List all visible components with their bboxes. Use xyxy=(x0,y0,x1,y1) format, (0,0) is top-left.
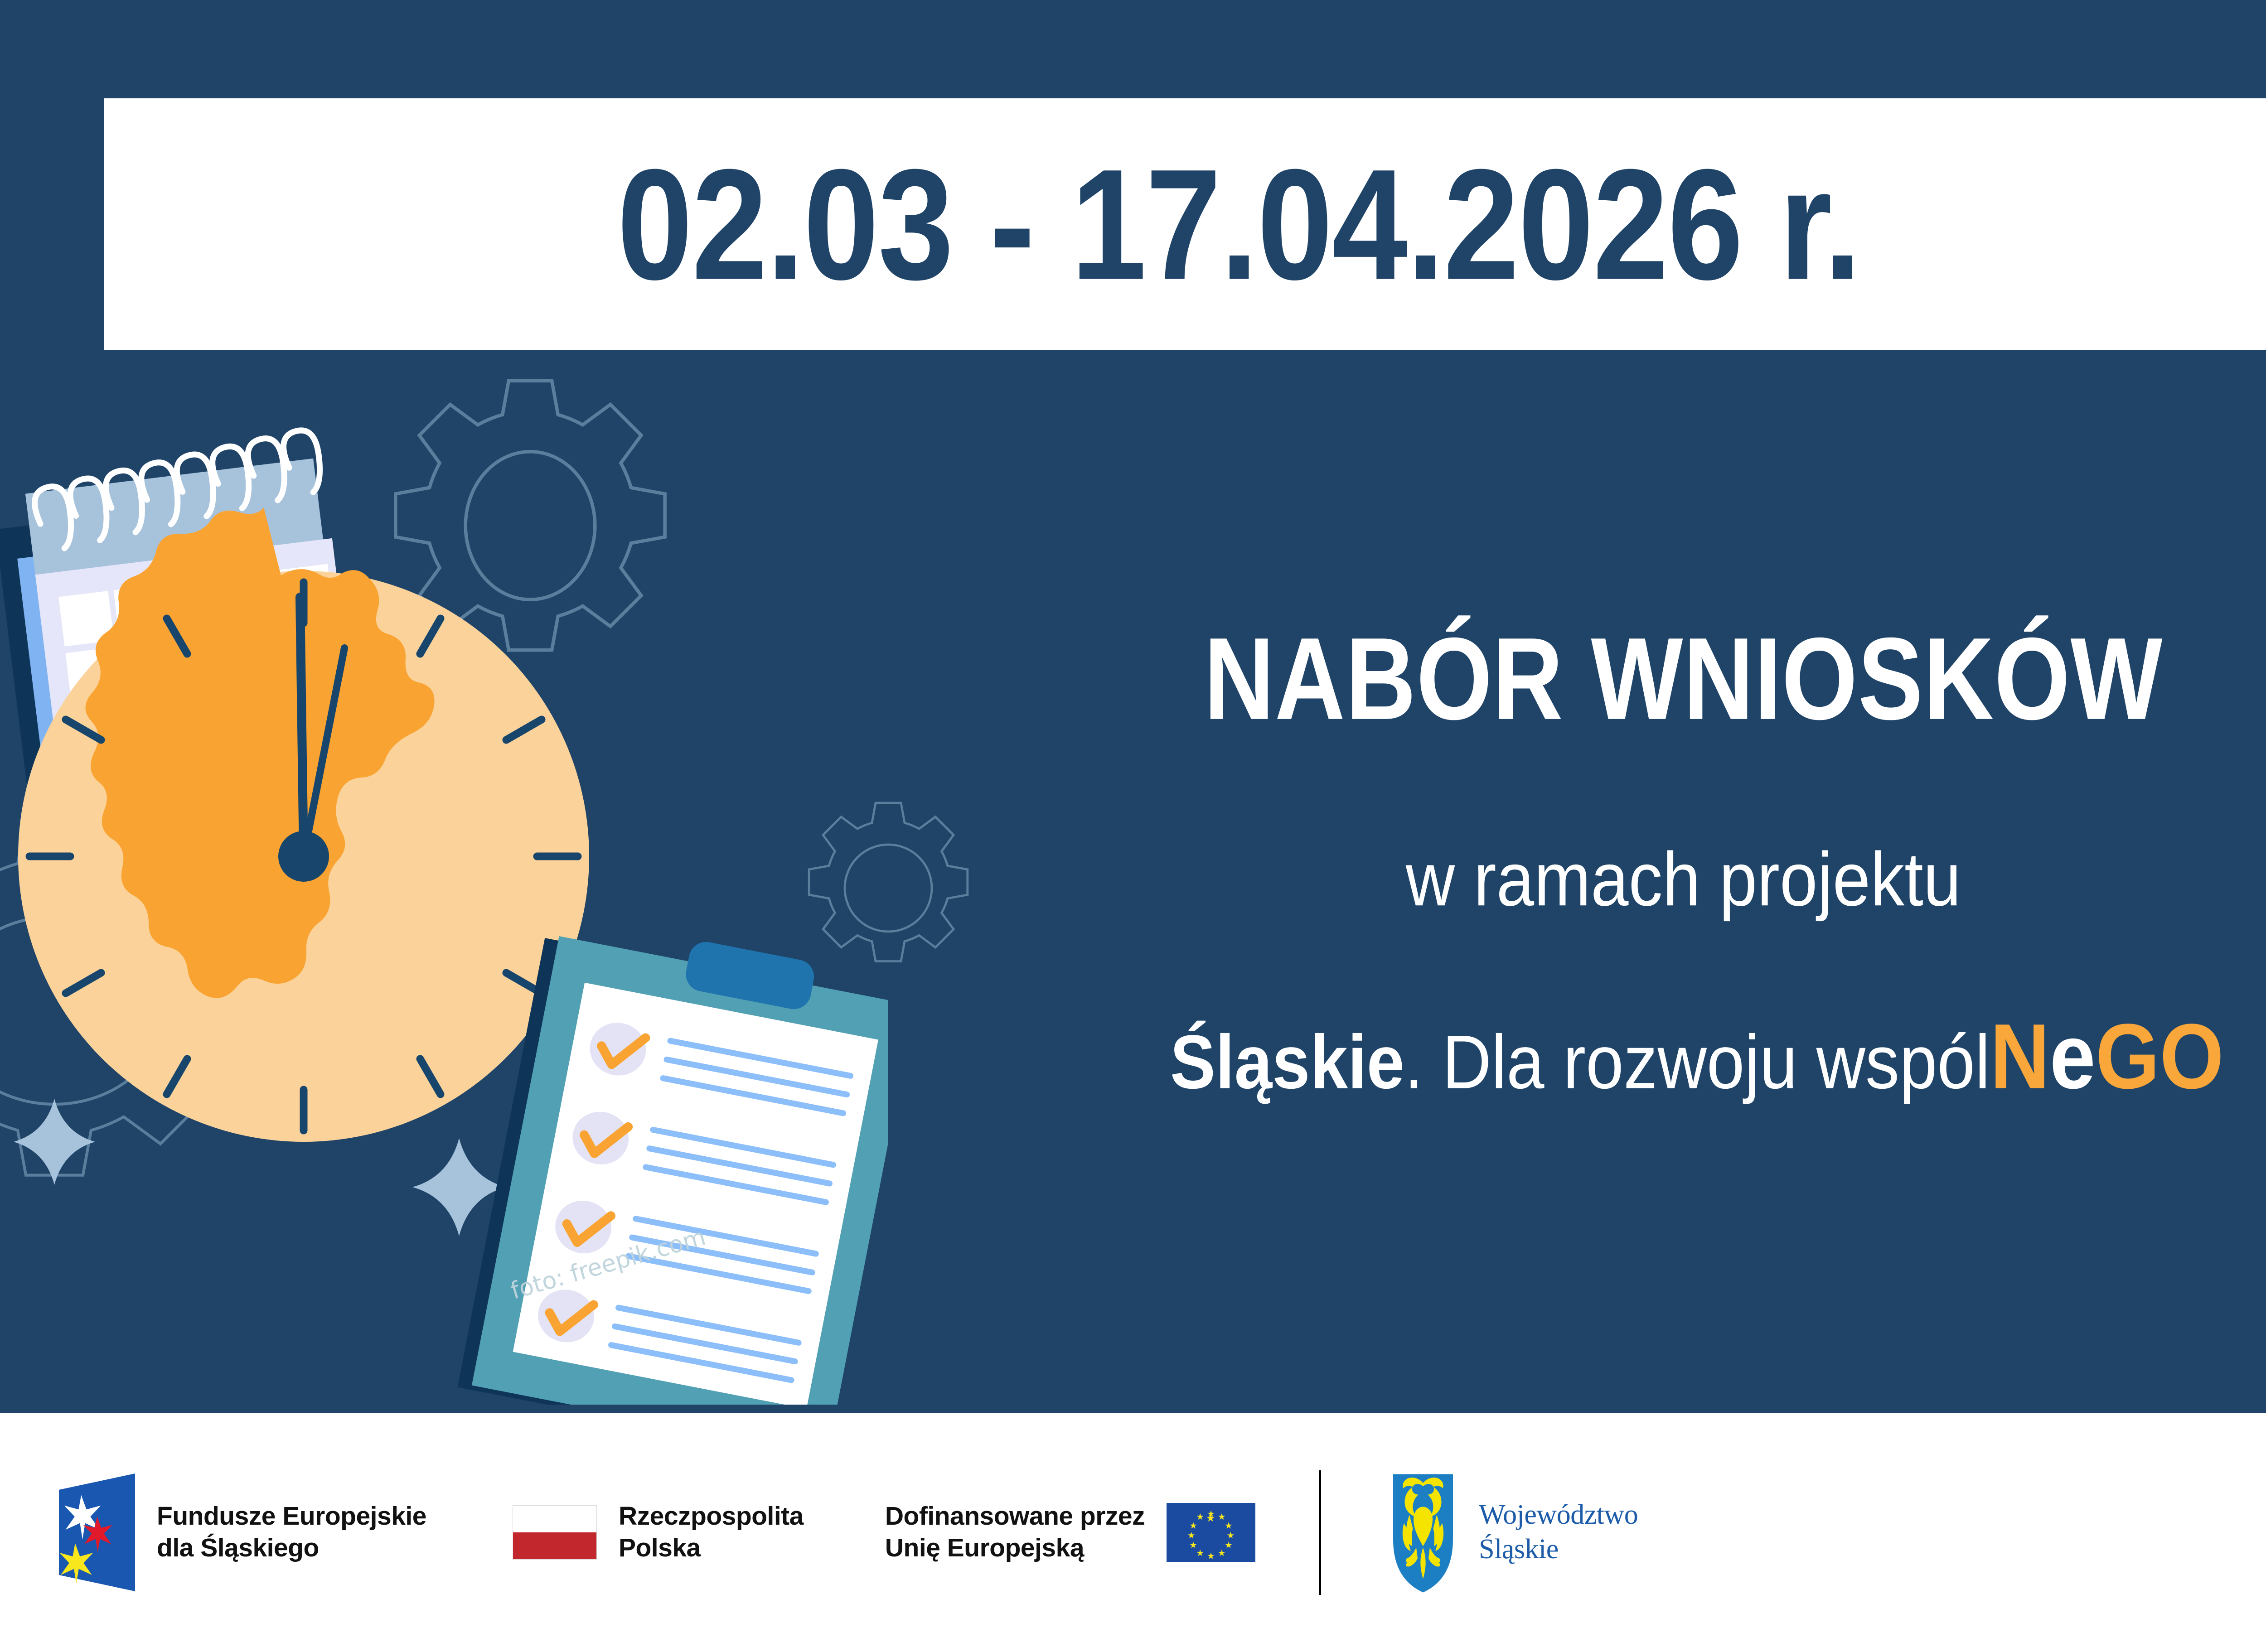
logo-label-line2: Polska xyxy=(619,1532,804,1564)
logo-unia-europejska: Dofinansowane przez Unię Europejską ★ ★ … xyxy=(885,1501,1255,1564)
logo-rzeczpospolita-polska: Rzeczpospolita Polska xyxy=(513,1501,804,1564)
svg-text:★: ★ xyxy=(1225,1541,1232,1551)
logo-divider xyxy=(1319,1470,1321,1595)
date-range-text: 02.03 - 17.04.2026 r. xyxy=(617,145,1861,303)
silesian-coat-of-arms-icon xyxy=(1389,1470,1457,1595)
svg-text:★: ★ xyxy=(1227,1531,1235,1541)
svg-text:★: ★ xyxy=(1187,1531,1195,1541)
svg-text:★: ★ xyxy=(1225,1521,1232,1531)
logo-label-line2: Śląskie xyxy=(1479,1532,1638,1567)
subtitle: w ramach projektu xyxy=(1406,841,1961,917)
svg-text:★: ★ xyxy=(1207,1509,1215,1519)
logo-label-line2: Unię Europejską xyxy=(885,1532,1145,1564)
project-tagline: Śląskie. Dla rozwoju wspólNeGO xyxy=(1170,1010,2224,1102)
page-title: NABÓR WNIOSKÓW xyxy=(1204,620,2163,737)
tagline-accent-n: N xyxy=(1990,1005,2049,1108)
logo-label-line1: Województwo xyxy=(1479,1498,1638,1532)
illustration-clock-calendar-clipboard xyxy=(0,376,888,1405)
svg-text:★: ★ xyxy=(1218,1548,1225,1558)
date-banner: 02.03 - 17.04.2026 r. xyxy=(104,98,2266,350)
svg-text:★: ★ xyxy=(1196,1548,1204,1558)
european-union-flag-icon: ★ ★ ★ ★ ★ ★ ★ ★ ★ ★ ★ ★ xyxy=(1167,1503,1255,1562)
logo-wojewodztwo-slaskie: Województwo Śląskie xyxy=(1389,1470,1638,1595)
logo-label-line1: Fundusze Europejskie xyxy=(157,1501,426,1532)
logo-fundusze-europejskie: Fundusze Europejskie dla Śląskiego xyxy=(59,1473,426,1591)
eu-funds-flag-icon xyxy=(59,1473,135,1591)
svg-text:★: ★ xyxy=(1207,1551,1215,1561)
tagline-bold: Śląskie xyxy=(1170,1019,1404,1104)
svg-text:★: ★ xyxy=(1196,1512,1204,1522)
logo-bar: Fundusze Europejskie dla Śląskiego Rzecz… xyxy=(0,1413,2266,1652)
logo-label-line1: Dofinansowane przez xyxy=(885,1501,1145,1532)
poland-flag-icon xyxy=(513,1505,597,1560)
tagline-middle: . Dla rozwoju wspól xyxy=(1404,1019,1990,1104)
poster-canvas: 02.03 - 17.04.2026 r. xyxy=(0,0,2266,1652)
logo-label-line2: dla Śląskiego xyxy=(157,1532,426,1564)
logo-label-line1: Rzeczpospolita xyxy=(619,1501,804,1532)
tagline-accent-e: e xyxy=(2050,1005,2096,1108)
sparkle-icon-left xyxy=(14,1099,95,1185)
tagline-accent-go: GO xyxy=(2096,1005,2224,1108)
main-text-block: NABÓR WNIOSKÓW w ramach projektu Śląskie… xyxy=(888,603,2266,1273)
svg-text:★: ★ xyxy=(1189,1521,1197,1531)
